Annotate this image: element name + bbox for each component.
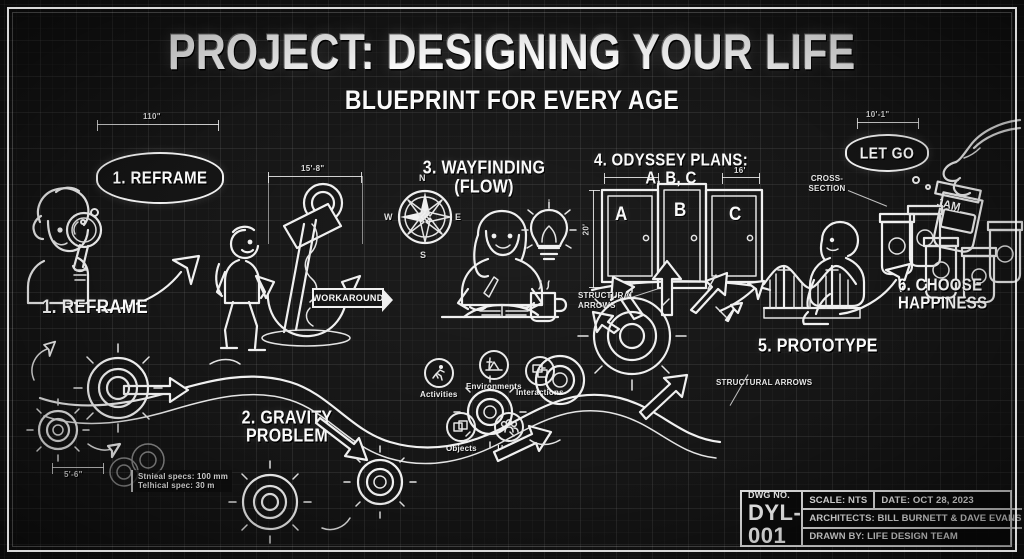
compass-label-south: S [420, 250, 426, 260]
title-block-dwg-cell: DWG NO. DYL-001 [742, 492, 803, 545]
title-block-row-drawn-by: DRAWN BY: LIFE DESIGN TEAM [803, 529, 1021, 545]
gear-large-left [74, 344, 162, 432]
door-label-b: B [674, 200, 687, 220]
door-label-a: A [615, 204, 628, 224]
gear-mid-bottom [229, 461, 311, 543]
dimension-label-gravity: 15'-8" [301, 164, 325, 173]
gear-far-right [536, 356, 584, 404]
title-block-row-scale-date: SCALE: NTS DATE: OCT 28, 2023 [803, 492, 1021, 510]
annotation-cross-section: CROSS-SECTION [806, 174, 848, 193]
dimension-line-reframe [97, 124, 219, 125]
thought-bubble-reframe-text: 1. REFRAME [113, 168, 208, 187]
dimension-line-door-a [604, 177, 659, 178]
dimension-line-gravity [268, 176, 362, 177]
dimension-label-door-width: 16' [734, 166, 746, 175]
workaround-sign-text: WORKAROUND [313, 293, 384, 303]
lightbulb-icon [522, 200, 577, 265]
dimension-label-door-height: 20' [581, 224, 590, 236]
dimension-line-door-height [593, 190, 594, 288]
scale-value: SCALE: NTS [809, 495, 867, 506]
gear-path-system-illustration [20, 320, 780, 550]
title-block-info: SCALE: NTS DATE: OCT 28, 2023 ARCHITECTS… [803, 492, 1021, 545]
dwg-no-value: DYL-001 [748, 501, 801, 547]
coffee-mug-icon [527, 283, 569, 323]
date-value: DATE: OCT 28, 2023 [881, 495, 973, 506]
spec-note-line2: Telhical spec: 30 m [138, 481, 228, 490]
dwg-no-label: DWG NO. [748, 490, 801, 500]
dimension-line-happiness [857, 122, 919, 123]
leader-line-cross-section [848, 190, 887, 207]
letgo-bubble-dot-large [912, 176, 920, 184]
spec-note-line1: Stnieal specs: 100 mm [138, 472, 228, 481]
door-label-c: C [729, 204, 742, 224]
dimension-line-gears [52, 467, 104, 468]
step-label-happiness-line1: 6. CHOOSE [898, 277, 982, 294]
step-label-wayfinding-line1: 3. WAYFINDING [404, 160, 564, 179]
architects-value: ARCHITECTS: BILL BURNETT & DAVE EVANS [809, 513, 1021, 524]
drawn-by-value: DRAWN BY: LIFE DESIGN TEAM [809, 531, 958, 542]
spec-note-box: Stnieal specs: 100 mm Telhical spec: 30 … [131, 470, 232, 492]
dimension-label-gears: 5'-6" [64, 470, 83, 479]
workaround-sign: WORKAROUND [312, 288, 384, 308]
dimension-label-happiness: 10'-1" [866, 110, 890, 119]
gear-right-small [454, 376, 526, 448]
blueprint-canvas: PROJECT: DESIGNING YOUR LIFE BLUEPRINT F… [0, 0, 1024, 559]
dimension-label-reframe: 110" [143, 112, 161, 121]
dimension-line-door-width [722, 177, 760, 178]
title-block-row-architects: ARCHITECTS: BILL BURNETT & DAVE EVANS [803, 510, 1021, 528]
annotation-structural-arrows-1: STRUCTURAL ARROWS [578, 291, 630, 311]
compass-label-west: W [384, 212, 393, 222]
compass-label-north: N [419, 173, 426, 183]
thought-bubble-letgo-text: LET GO [860, 144, 915, 162]
thought-bubble-letgo: LET GO [845, 134, 929, 172]
step-label-happiness-line2: HAPPINESS [898, 295, 987, 312]
title-block-divider [873, 492, 875, 508]
step-label-reframe: 1. REFRAME [42, 297, 148, 317]
gear-small-left [27, 399, 89, 461]
title-block: DWG NO. DYL-001 SCALE: NTS DATE: OCT 28,… [740, 490, 1012, 547]
page-title: PROJECT: DESIGNING YOUR LIFE [0, 24, 1024, 81]
